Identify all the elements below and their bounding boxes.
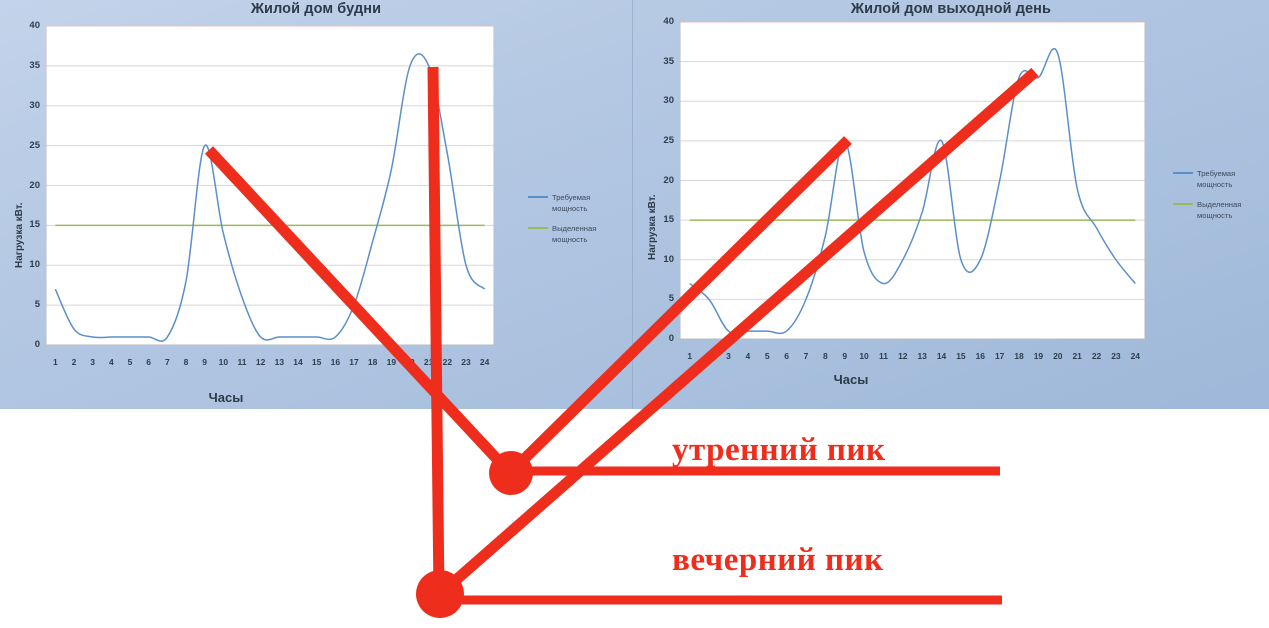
x-tick-label: 4 <box>102 357 120 367</box>
x-tick-label: 11 <box>874 351 892 361</box>
legend-item-required-power: Требуемая мощность <box>528 192 624 214</box>
x-tick-label: 9 <box>836 351 854 361</box>
plot-area-weekday <box>46 26 494 345</box>
legend-swatch-allocated-power <box>1173 203 1193 205</box>
x-tick-label: 20 <box>1049 351 1067 361</box>
chart-title-weekend: Жилой дом выходной день <box>633 1 1269 17</box>
x-tick-label: 13 <box>913 351 931 361</box>
y-tick-label: 5 <box>652 293 674 304</box>
legend-label-allocated-line2: мощность <box>1197 210 1269 221</box>
legend-item-allocated-power: Выделенная мощность <box>1173 199 1269 221</box>
legend-item-allocated-power: Выделенная мощность <box>528 223 624 245</box>
legend-label-required-line2: мощность <box>552 203 624 214</box>
x-tick-label: 8 <box>816 351 834 361</box>
y-tick-label: 0 <box>18 339 40 350</box>
x-tick-label: 15 <box>308 357 326 367</box>
x-tick-label: 17 <box>991 351 1009 361</box>
legend-swatch-required-power <box>528 196 548 198</box>
x-tick-label: 24 <box>1126 351 1144 361</box>
x-tick-label: 4 <box>739 351 757 361</box>
legend-label-required-line1: Требуемая <box>552 192 624 203</box>
chart-weekend: Жилой дом выходной день Нагрузка кВт. 05… <box>633 0 1269 409</box>
x-tick-label: 8 <box>177 357 195 367</box>
x-tick-label: 16 <box>326 357 344 367</box>
x-tick-label: 21 <box>420 357 438 367</box>
legend-label-allocated-line1: Выделенная <box>552 223 624 234</box>
y-tick-label: 30 <box>18 100 40 111</box>
x-tick-label: 11 <box>233 357 251 367</box>
y-tick-label: 25 <box>652 135 674 146</box>
plot-svg-weekend <box>680 22 1145 339</box>
x-tick-label: 22 <box>1088 351 1106 361</box>
x-tick-label: 3 <box>719 351 737 361</box>
x-tick-label: 14 <box>933 351 951 361</box>
morning-peak-label: утренний пик <box>672 432 885 469</box>
annotation-area <box>0 409 1269 628</box>
x-tick-label: 18 <box>1010 351 1028 361</box>
plot-svg-weekday <box>46 26 494 345</box>
x-tick-label: 1 <box>681 351 699 361</box>
x-tick-label: 12 <box>252 357 270 367</box>
legend-label-allocated-line1: Выделенная <box>1197 199 1269 210</box>
x-tick-label: 20 <box>401 357 419 367</box>
legend-weekend: Требуемая мощность Выделенная мощность <box>1173 168 1269 230</box>
y-tick-label: 10 <box>18 259 40 270</box>
slide-panel: Жилой дом будни Нагрузка кВт. 0510152025… <box>0 0 1269 409</box>
x-tick-label: 5 <box>121 357 139 367</box>
legend-weekday: Требуемая мощность Выделенная мощность <box>528 192 624 254</box>
x-tick-label: 9 <box>196 357 214 367</box>
x-tick-label: 12 <box>894 351 912 361</box>
y-tick-label: 25 <box>18 140 40 151</box>
y-tick-label: 40 <box>652 16 674 27</box>
y-tick-label: 40 <box>18 20 40 31</box>
x-tick-label: 7 <box>158 357 176 367</box>
chart-title-weekday: Жилой дом будни <box>0 1 632 17</box>
y-tick-label: 0 <box>652 333 674 344</box>
legend-swatch-required-power <box>1173 172 1193 174</box>
legend-swatch-allocated-power <box>528 227 548 229</box>
x-tick-label: 23 <box>1107 351 1125 361</box>
y-tick-label: 15 <box>18 219 40 230</box>
y-tick-label: 10 <box>652 254 674 265</box>
x-tick-label: 24 <box>476 357 494 367</box>
y-tick-label: 15 <box>652 214 674 225</box>
x-tick-label: 3 <box>84 357 102 367</box>
x-tick-label: 13 <box>270 357 288 367</box>
y-axis-label-weekend: Нагрузка кВт. <box>647 194 658 260</box>
x-tick-label: 14 <box>289 357 307 367</box>
y-tick-label: 30 <box>652 95 674 106</box>
x-tick-label: 21 <box>1068 351 1086 361</box>
x-tick-label: 6 <box>140 357 158 367</box>
x-tick-label: 18 <box>364 357 382 367</box>
y-tick-label: 20 <box>652 175 674 186</box>
legend-label-allocated-line2: мощность <box>552 234 624 245</box>
y-axis-label-weekday: Нагрузка кВт. <box>14 202 25 268</box>
x-tick-label: 23 <box>457 357 475 367</box>
y-tick-label: 35 <box>652 56 674 67</box>
x-tick-label: 17 <box>345 357 363 367</box>
chart-weekday: Жилой дом будни Нагрузка кВт. 0510152025… <box>0 0 632 409</box>
y-tick-label: 20 <box>18 180 40 191</box>
plot-area-weekend <box>680 22 1145 339</box>
x-tick-label: 6 <box>778 351 796 361</box>
legend-label-required-line1: Требуемая <box>1197 168 1269 179</box>
x-tick-label: 7 <box>797 351 815 361</box>
x-tick-label: 19 <box>382 357 400 367</box>
legend-label-required-line2: мощность <box>1197 179 1269 190</box>
legend-item-required-power: Требуемая мощность <box>1173 168 1269 190</box>
y-tick-label: 5 <box>18 299 40 310</box>
y-tick-label: 35 <box>18 60 40 71</box>
x-tick-label: 15 <box>952 351 970 361</box>
evening-peak-label: вечерний пик <box>672 542 884 579</box>
x-axis-label-weekend: Часы <box>533 372 1169 387</box>
x-tick-label: 1 <box>46 357 64 367</box>
x-tick-label: 2 <box>65 357 83 367</box>
x-tick-label: 16 <box>971 351 989 361</box>
x-tick-label: 10 <box>214 357 232 367</box>
x-tick-label: 19 <box>1029 351 1047 361</box>
x-tick-label: 10 <box>855 351 873 361</box>
x-tick-label: 22 <box>438 357 456 367</box>
x-tick-label: 5 <box>758 351 776 361</box>
x-axis-label-weekday: Часы <box>0 390 542 405</box>
